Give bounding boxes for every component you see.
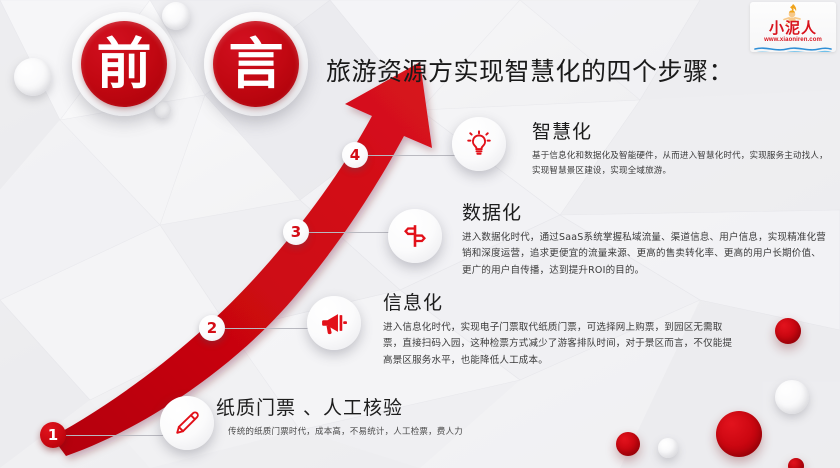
wave-icon — [754, 42, 832, 52]
step-body-2: 进入信息化时代，实现电子门票取代纸质门票，可选择网上购票，到园区无需取票，直接扫… — [383, 320, 735, 369]
step-heading-4: 智慧化 — [532, 117, 832, 144]
step-block-2: 信息化 进入信息化时代，实现电子门票取代纸质门票，可选择网上购票，到园区无需取票… — [383, 288, 735, 369]
badge-qian-label: 前 — [81, 21, 167, 107]
decor-sphere-white — [658, 438, 678, 458]
lightbulb-icon — [465, 130, 493, 158]
decor-sphere-red — [788, 458, 804, 468]
step-body-3: 进入数据化时代，通过SaaS系统掌握私域流量、渠道信息、用户信息，实现精准化营销… — [462, 230, 830, 279]
badge-yan-label: 言 — [213, 21, 299, 107]
step-icon-2[interactable] — [307, 296, 361, 350]
decor-sphere-red — [775, 318, 801, 344]
badge-qian: 前 — [72, 12, 176, 116]
step-number-3[interactable]: 3 — [283, 219, 309, 245]
step-number-1-label: 1 — [48, 428, 58, 443]
step-number-2[interactable]: 2 — [199, 315, 225, 341]
step-number-2-label: 2 — [207, 321, 217, 336]
step-heading-3: 数据化 — [462, 198, 830, 225]
step-block-4: 智慧化 基于信息化和数据化及智能硬件，从而进入智慧化时代，实现服务主动找人，实现… — [532, 117, 832, 178]
slide-canvas: 前 言 旅游资源方实现智慧化的四个步骤： 1 2 3 4 — [0, 0, 840, 468]
connector-line-2 — [225, 328, 313, 329]
decor-sphere-white — [14, 58, 52, 96]
step-icon-3[interactable] — [388, 209, 442, 263]
connector-line-1 — [66, 435, 166, 436]
step-number-3-label: 3 — [291, 225, 301, 240]
badge-yan: 言 — [204, 12, 308, 116]
decor-sphere-red — [616, 432, 640, 456]
step-number-4[interactable]: 4 — [342, 142, 368, 168]
xiaoniren-logo[interactable]: 小泥人 www.xiaoniren.com — [750, 2, 836, 52]
step-block-3: 数据化 进入数据化时代，通过SaaS系统掌握私域流量、渠道信息、用户信息，实现精… — [462, 198, 830, 279]
step-heading-2: 信息化 — [383, 288, 735, 315]
decor-sphere-white — [162, 2, 190, 30]
connector-line-3 — [309, 232, 393, 233]
step-icon-1[interactable] — [160, 396, 214, 450]
page-title: 旅游资源方实现智慧化的四个步骤： — [326, 52, 734, 88]
step-block-1: 纸质门票 、人工核验 传统的纸质门票时代，成本高，不易统计，人工检票，费人力 — [216, 393, 463, 440]
megaphone-icon — [320, 309, 348, 337]
signpost-icon — [402, 223, 428, 249]
connector-line-4 — [368, 155, 458, 156]
pencil-icon — [173, 409, 201, 437]
decor-sphere-white — [775, 380, 809, 414]
step-number-4-label: 4 — [350, 148, 360, 163]
decor-sphere-red — [716, 411, 762, 457]
logo-url-text: www.xiaoniren.com — [750, 37, 836, 43]
step-body-1: 传统的纸质门票时代，成本高，不易统计，人工检票，费人力 — [216, 425, 463, 440]
step-number-1[interactable]: 1 — [40, 422, 66, 448]
decor-sphere-white — [155, 102, 171, 118]
step-icon-4[interactable] — [452, 117, 506, 171]
step-heading-1: 纸质门票 、人工核验 — [216, 393, 463, 420]
step-body-4: 基于信息化和数据化及智能硬件，从而进入智慧化时代，实现服务主动找人，实现智慧景区… — [532, 149, 832, 178]
logo-brand-text: 小泥人 — [753, 21, 833, 36]
